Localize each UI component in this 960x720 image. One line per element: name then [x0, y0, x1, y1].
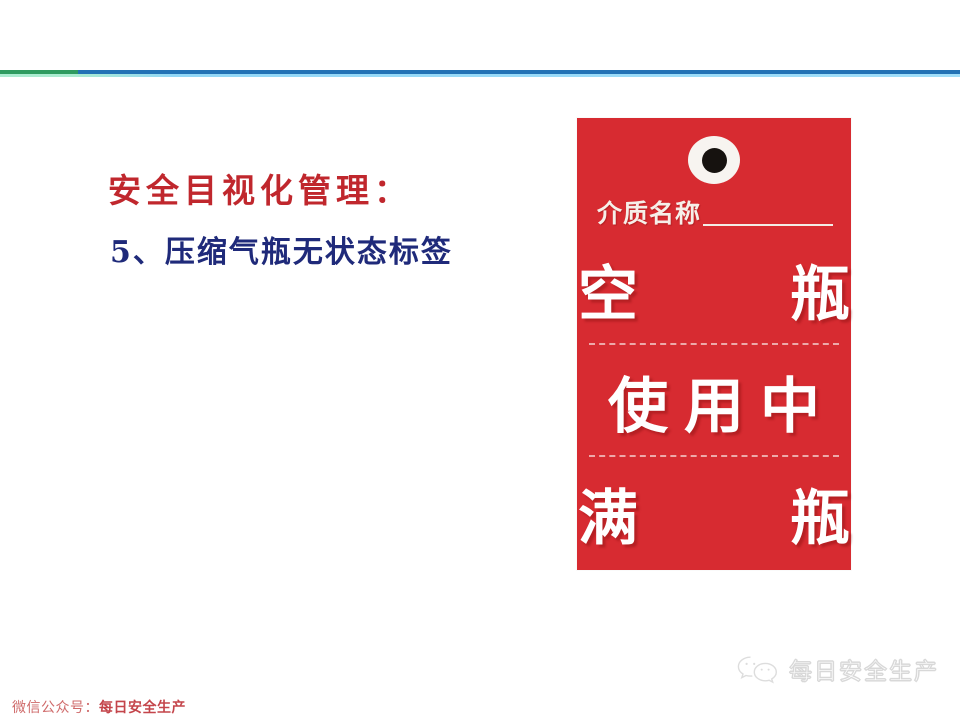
wechat-icon — [735, 654, 781, 684]
medium-name-label: 介质名称 — [597, 194, 701, 230]
status-label-full: 满 瓶 — [532, 489, 896, 549]
footer-wechat-credit: 微信公众号：每日安全生产 — [12, 697, 186, 717]
slide-canvas: 安全目视化管理： 5、压缩气瓶无状态标签 介质名称 空 瓶 使用中 满 瓶 微信… — [0, 0, 960, 720]
top-divider-glow — [0, 74, 960, 77]
footer-wechat-prefix: 微信公众号： — [12, 700, 99, 716]
tag-punch-hole-center — [702, 148, 727, 173]
status-label-in-use: 使用中 — [592, 377, 836, 437]
status-cell-empty: 空 瓶 — [577, 246, 851, 344]
footer-wechat-account: 每日安全生产 — [99, 700, 186, 716]
page-subtitle: 5、压缩气瓶无状态标签 — [110, 233, 453, 272]
status-cell-full: 满 瓶 — [577, 470, 851, 568]
tag-separator-1 — [589, 343, 839, 345]
medium-name-write-line — [703, 224, 833, 226]
page-title: 安全目视化管理： — [108, 170, 412, 211]
watermark: 每日安全生产 — [735, 652, 939, 686]
medium-name-row: 介质名称 — [597, 194, 833, 230]
tag-separator-2 — [589, 455, 839, 457]
tag-punch-hole-icon — [688, 136, 740, 184]
gas-cylinder-status-tag: 介质名称 空 瓶 使用中 满 瓶 — [577, 118, 851, 570]
watermark-text: 每日安全生产 — [789, 652, 939, 686]
status-label-empty: 空 瓶 — [532, 265, 896, 325]
status-cell-in-use: 使用中 — [577, 358, 851, 456]
